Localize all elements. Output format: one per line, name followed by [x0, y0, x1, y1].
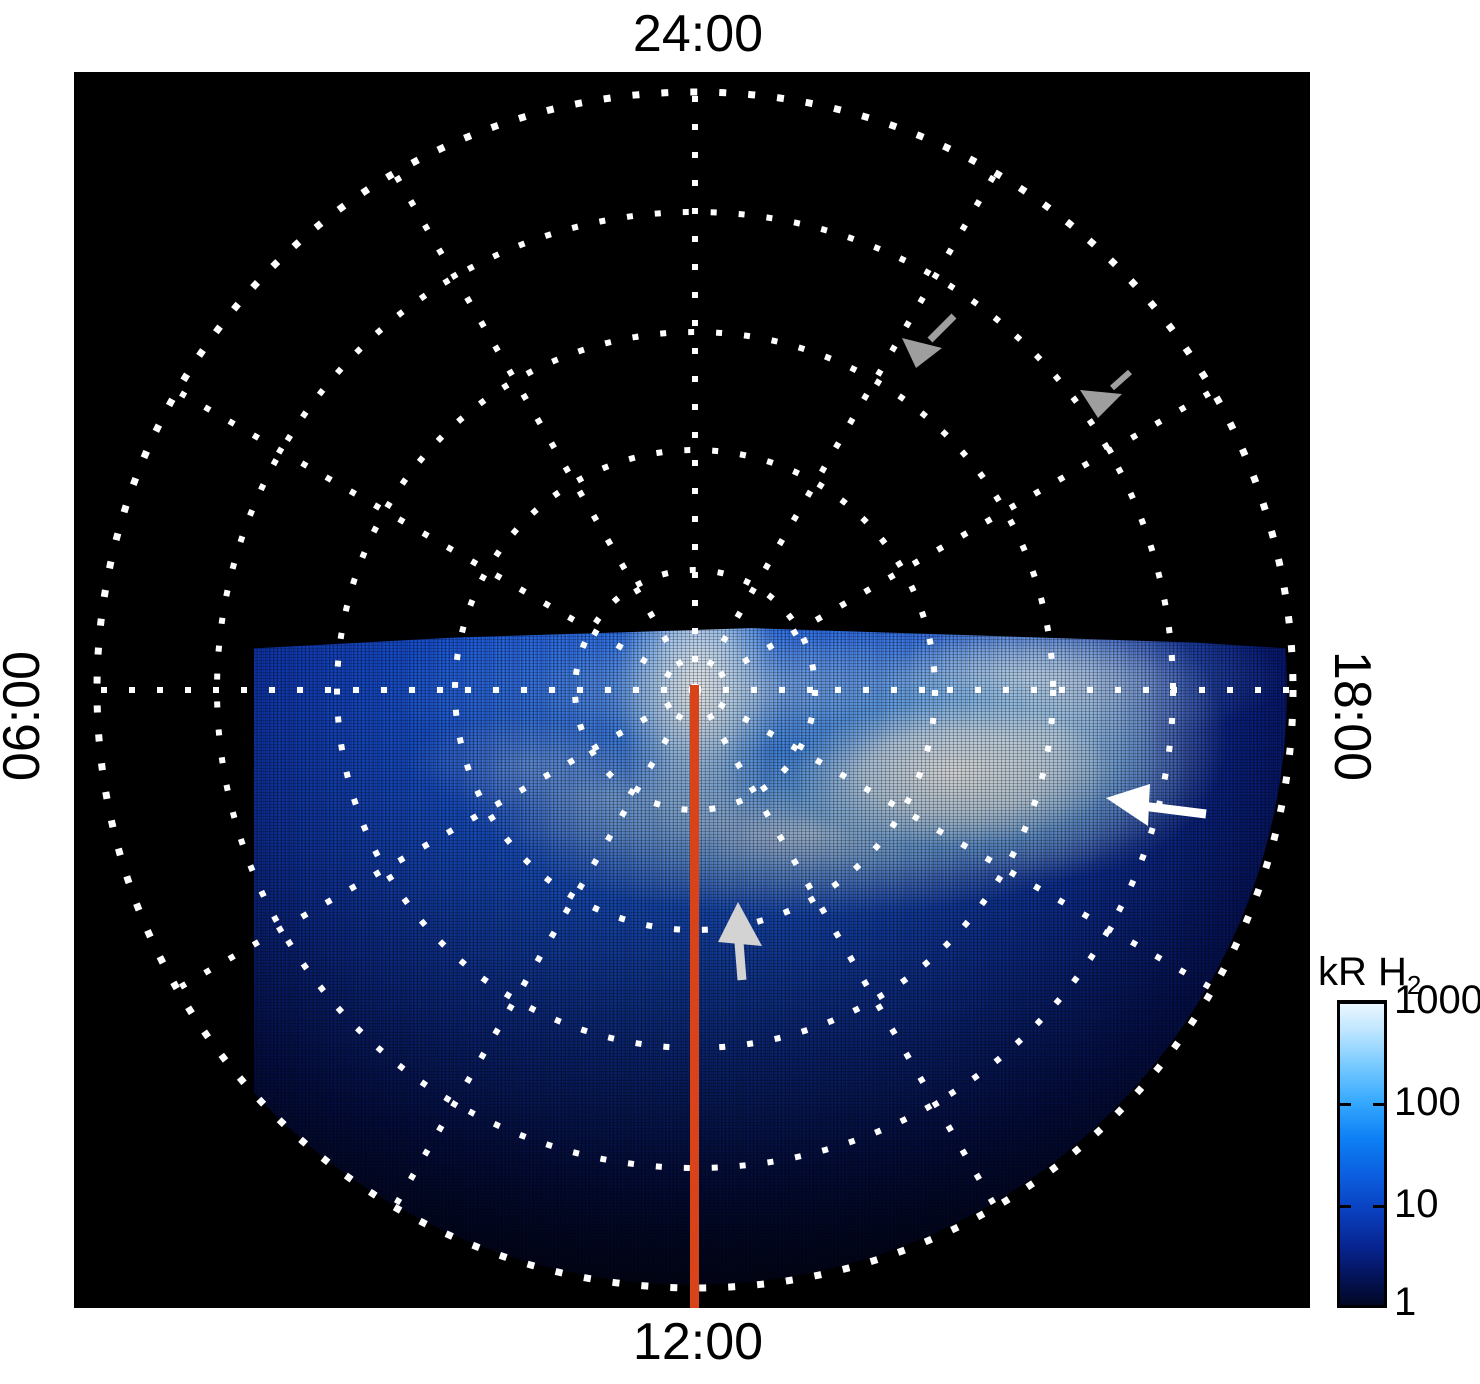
axis-label-top: 24:00 — [0, 8, 1480, 60]
axis-label-bottom-text: 12:00 — [633, 1316, 763, 1368]
gray-arrow-upper-right — [1072, 364, 1144, 428]
polar-plot-area — [74, 72, 1310, 1308]
radial-09-00 — [394, 690, 695, 1208]
colorbar-label-1: 1 — [1394, 1282, 1416, 1322]
colorbar-tick-10 — [1337, 1205, 1351, 1208]
colorbar-label-1000: 1000 — [1394, 980, 1480, 1020]
radial-03-00 — [394, 172, 695, 690]
gray-arrow-center — [712, 896, 770, 984]
axis-label-right: 18:00 — [1326, 586, 1378, 846]
colorbar-label-10: 10 — [1394, 1184, 1439, 1224]
colorbar-tick-100 — [1337, 1103, 1351, 1106]
colorbar-tick-1000 — [1337, 1001, 1387, 1004]
colorbar-tick-100b — [1373, 1103, 1387, 1106]
colorbar-tick-10b — [1373, 1205, 1387, 1208]
radial-16-30 — [695, 690, 1213, 989]
radial-21-00 — [695, 172, 996, 690]
white-arrow-right — [1100, 778, 1210, 836]
axis-label-top-text: 24:00 — [633, 8, 763, 60]
radial-07-30 — [177, 690, 695, 989]
gray-arrow-upper-left — [894, 308, 974, 378]
radial-19-30 — [695, 391, 1213, 690]
colorbar-gradient — [1337, 1000, 1387, 1308]
radial-04-30 — [177, 391, 695, 690]
colorbar-label-100: 100 — [1394, 1082, 1461, 1122]
axis-label-bottom: 12:00 — [0, 1316, 1480, 1368]
central-meridian-line — [690, 685, 699, 1308]
axis-label-left: 06:00 — [0, 586, 48, 846]
